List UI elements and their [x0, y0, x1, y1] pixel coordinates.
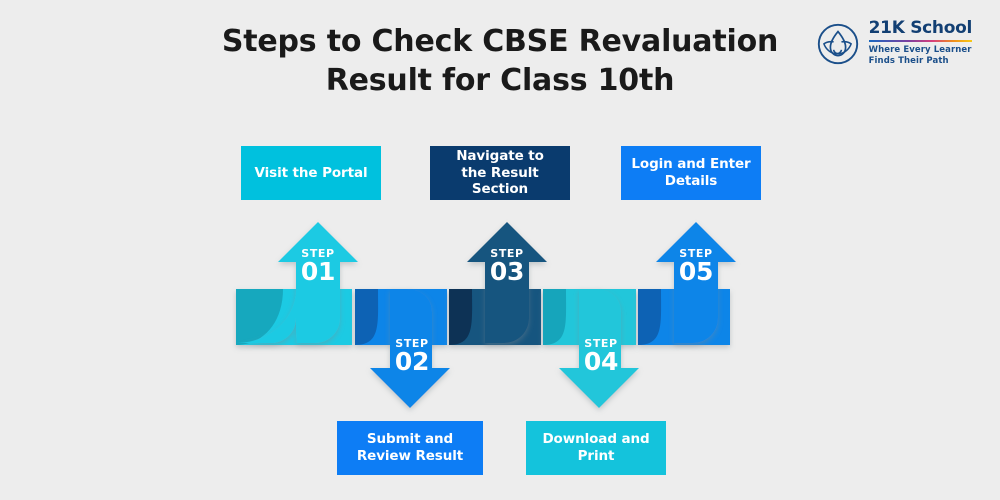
- step-label-text-4: Download and Print: [542, 431, 649, 465]
- infographic-canvas: Steps to Check CBSE Revaluation Result f…: [0, 0, 1000, 500]
- step-label-text-2-line-1: Submit and: [367, 431, 453, 447]
- step-label-text-4-line-1: Download and: [542, 431, 649, 447]
- step-label-box-5[interactable]: Login and Enter Details: [621, 146, 761, 200]
- step-label-box-1[interactable]: Visit the Portal: [241, 146, 381, 200]
- step-label-text-5-line-2: Details: [665, 173, 718, 189]
- step-label-text-5: Login and Enter Details: [631, 156, 750, 190]
- step-label-text-2: Submit and Review Result: [357, 431, 463, 465]
- step-label-text-4-line-2: Print: [578, 448, 615, 464]
- step-label-text-3-line-2: the Result Section: [461, 165, 538, 198]
- step-label-text-2-line-2: Review Result: [357, 448, 463, 464]
- step-label-text-1: Visit the Portal: [255, 165, 368, 182]
- step-label-text-3-line-1: Navigate to: [456, 148, 544, 164]
- step-label-box-3[interactable]: Navigate to the Result Section: [430, 146, 570, 200]
- step-label-box-4[interactable]: Download and Print: [526, 421, 666, 475]
- flow-diagram: STEP 01 STEP 02 STEP 03 STEP 04 STEP 05 …: [0, 0, 1000, 500]
- step-label-text-5-line-1: Login and Enter: [631, 156, 750, 172]
- flow-diagram-graphic: [0, 0, 1000, 500]
- step-label-box-2[interactable]: Submit and Review Result: [337, 421, 483, 475]
- step-label-text-3: Navigate to the Result Section: [438, 148, 562, 199]
